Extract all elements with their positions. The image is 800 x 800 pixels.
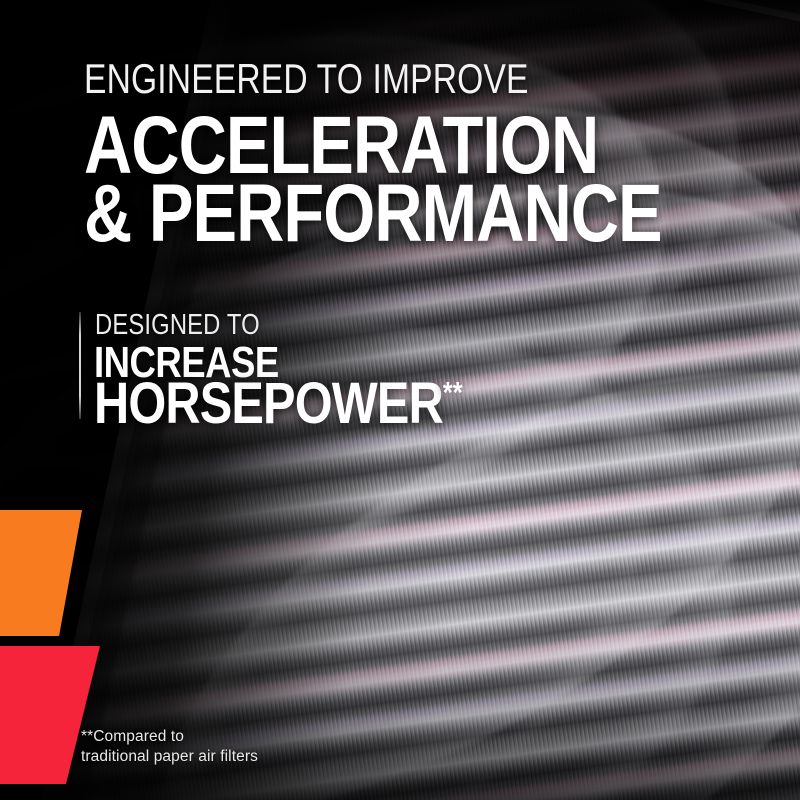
headline-line-2: & PERFORMANCE (84, 176, 662, 252)
subhead-line-2-text: HORSEPOWER (94, 371, 443, 436)
footnote-line-2: traditional paper air filters (81, 747, 258, 767)
promo-banner: ENGINEERED TO IMPROVE ACCELERATION & PER… (0, 0, 800, 800)
vertical-divider-rule (79, 312, 81, 419)
subhead-eyebrow: DESIGNED TO (95, 311, 260, 340)
subhead-line-2: HORSEPOWER** (94, 375, 463, 433)
footnote-block: **Compared to traditional paper air filt… (81, 727, 258, 768)
footnote-line-1: **Compared to (81, 727, 258, 747)
headline-eyebrow: ENGINEERED TO IMPROVE (84, 58, 529, 100)
copy-block: ENGINEERED TO IMPROVE ACCELERATION & PER… (0, 0, 800, 800)
footnote-marker: ** (443, 377, 463, 410)
